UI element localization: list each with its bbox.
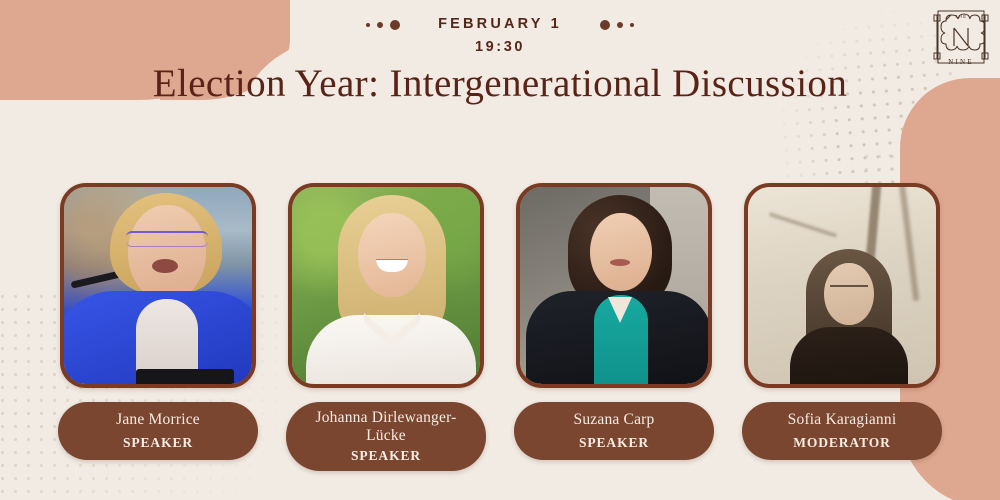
mouth-shape — [152, 259, 178, 273]
face-shape — [590, 213, 652, 291]
event-date: FEBRUARY 1 — [438, 16, 562, 32]
face-shape — [128, 205, 206, 301]
speaker-photo-frame — [516, 183, 712, 388]
dot-medium — [377, 22, 383, 28]
speaker-card: Sofia Karagianni MODERATOR — [742, 183, 942, 471]
speaker-card: Jane Morrice SPEAKER — [58, 183, 258, 471]
event-time: 19:30 — [438, 38, 562, 56]
face-shape — [358, 213, 426, 297]
speaker-role: SPEAKER — [579, 435, 649, 451]
speaker-badge: Johanna Dirlewanger-Lücke SPEAKER — [286, 402, 486, 471]
shirt-shape — [306, 315, 476, 384]
dot-medium — [617, 22, 623, 28]
speaker-role: SPEAKER — [351, 448, 421, 464]
decorative-dots-left — [366, 17, 400, 33]
speaker-photo-frame — [288, 183, 484, 388]
speaker-photo-johanna-dirlewanger-lucke — [292, 187, 480, 384]
speaker-name: Jane Morrice — [116, 411, 200, 429]
dot-large — [390, 20, 400, 30]
speaker-photo-frame — [60, 183, 256, 388]
microphone-base-shape — [136, 369, 234, 384]
logo-top-word: THE — [955, 14, 968, 19]
event-title: Election Year: Intergenerational Discuss… — [130, 58, 870, 109]
sweater-shape — [790, 327, 908, 384]
speaker-card: Suzana Carp SPEAKER — [514, 183, 714, 471]
logo-monogram-n — [954, 28, 968, 46]
tree-shape — [899, 187, 920, 301]
speaker-photo-suzana-carp — [520, 187, 708, 384]
glasses-shape — [126, 231, 208, 247]
branch-shape — [769, 212, 837, 237]
speaker-list: Jane Morrice SPEAKER Johanna Dirlewanger… — [58, 183, 942, 471]
date-time-text: FEBRUARY 1 19:30 — [438, 14, 562, 56]
speaker-name: Suzana Carp — [574, 411, 655, 429]
speaker-photo-jane-morrice — [64, 187, 252, 384]
speaker-card: Johanna Dirlewanger-Lücke SPEAKER — [286, 183, 486, 471]
speaker-photo-frame — [744, 183, 940, 388]
dot-large — [600, 20, 610, 30]
date-time-header: FEBRUARY 1 19:30 — [0, 14, 1000, 56]
lips-shape — [610, 259, 630, 266]
dot-small — [630, 23, 634, 27]
speaker-name: Johanna Dirlewanger-Lücke — [296, 409, 476, 446]
speaker-badge: Jane Morrice SPEAKER — [58, 402, 258, 460]
dot-small — [366, 23, 370, 27]
eyes-shape — [830, 285, 868, 291]
speaker-badge: Suzana Carp SPEAKER — [514, 402, 714, 460]
decorative-dots-right — [600, 17, 634, 33]
event-poster: THE NINE FEBRUARY 1 19:30 Election Year:… — [0, 0, 1000, 500]
speaker-badge: Sofia Karagianni MODERATOR — [742, 402, 942, 460]
speaker-role: MODERATOR — [793, 435, 891, 451]
face-shape — [824, 263, 874, 325]
speaker-role: SPEAKER — [123, 435, 193, 451]
the-nine-logo: THE NINE — [932, 6, 990, 68]
speaker-photo-sofia-karagianni — [748, 187, 936, 384]
logo-bottom-word: NINE — [948, 58, 974, 66]
speaker-name: Sofia Karagianni — [788, 411, 897, 429]
